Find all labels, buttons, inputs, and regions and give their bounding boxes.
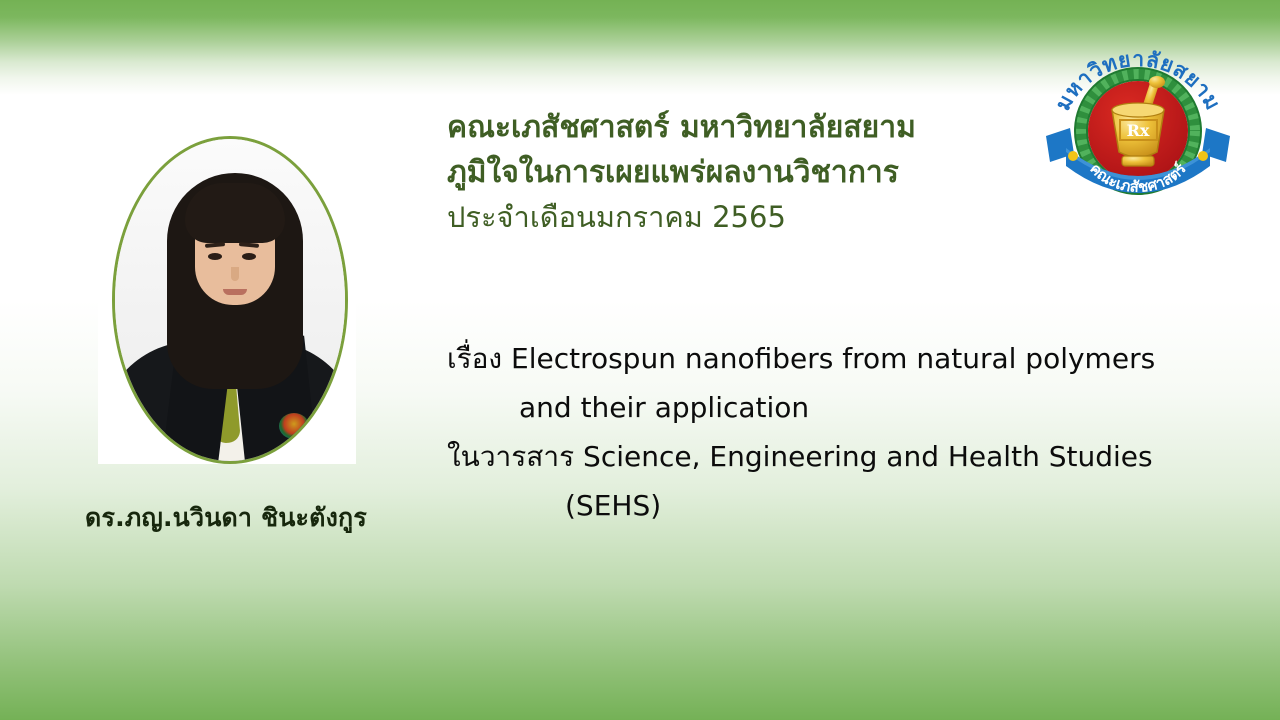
journal-name-line: ในวารสาร Science, Engineering and Health…	[447, 432, 1207, 481]
portrait-mouth	[223, 289, 247, 295]
header-line-3-month-year: ประจำเดือนมกราคม 2565	[447, 195, 1147, 240]
header-line-1: คณะเภสัชศาสตร์ มหาวิทยาลัยสยาม	[447, 105, 1147, 150]
header-text-block: คณะเภสัชศาสตร์ มหาวิทยาลัยสยาม ภูมิใจในก…	[447, 105, 1147, 240]
portrait-nose	[231, 267, 239, 281]
body-text-block: เรื่อง Electrospun nanofibers from natur…	[447, 334, 1207, 530]
portrait-hair-front	[185, 183, 285, 243]
article-title-line-2: and their application	[447, 383, 1207, 432]
portrait-eye-right	[242, 253, 256, 260]
portrait-faculty-pin-icon	[279, 413, 309, 439]
journal-abbreviation-line: (SEHS)	[447, 481, 1207, 530]
header-line-2: ภูมิใจในการเผยแพร่ผลงานวิชาการ	[447, 150, 1147, 195]
announcement-slide: มหาวิทยาลัยสยาม Rx	[0, 0, 1280, 720]
article-title-line-1: เรื่อง Electrospun nanofibers from natur…	[447, 334, 1207, 383]
portrait-eye-left	[208, 253, 222, 260]
portrait-card	[98, 128, 356, 464]
portrait-caption: ดร.ภญ.นวินดา ชินะตังกูร	[0, 498, 452, 538]
portrait-photo	[112, 136, 348, 464]
